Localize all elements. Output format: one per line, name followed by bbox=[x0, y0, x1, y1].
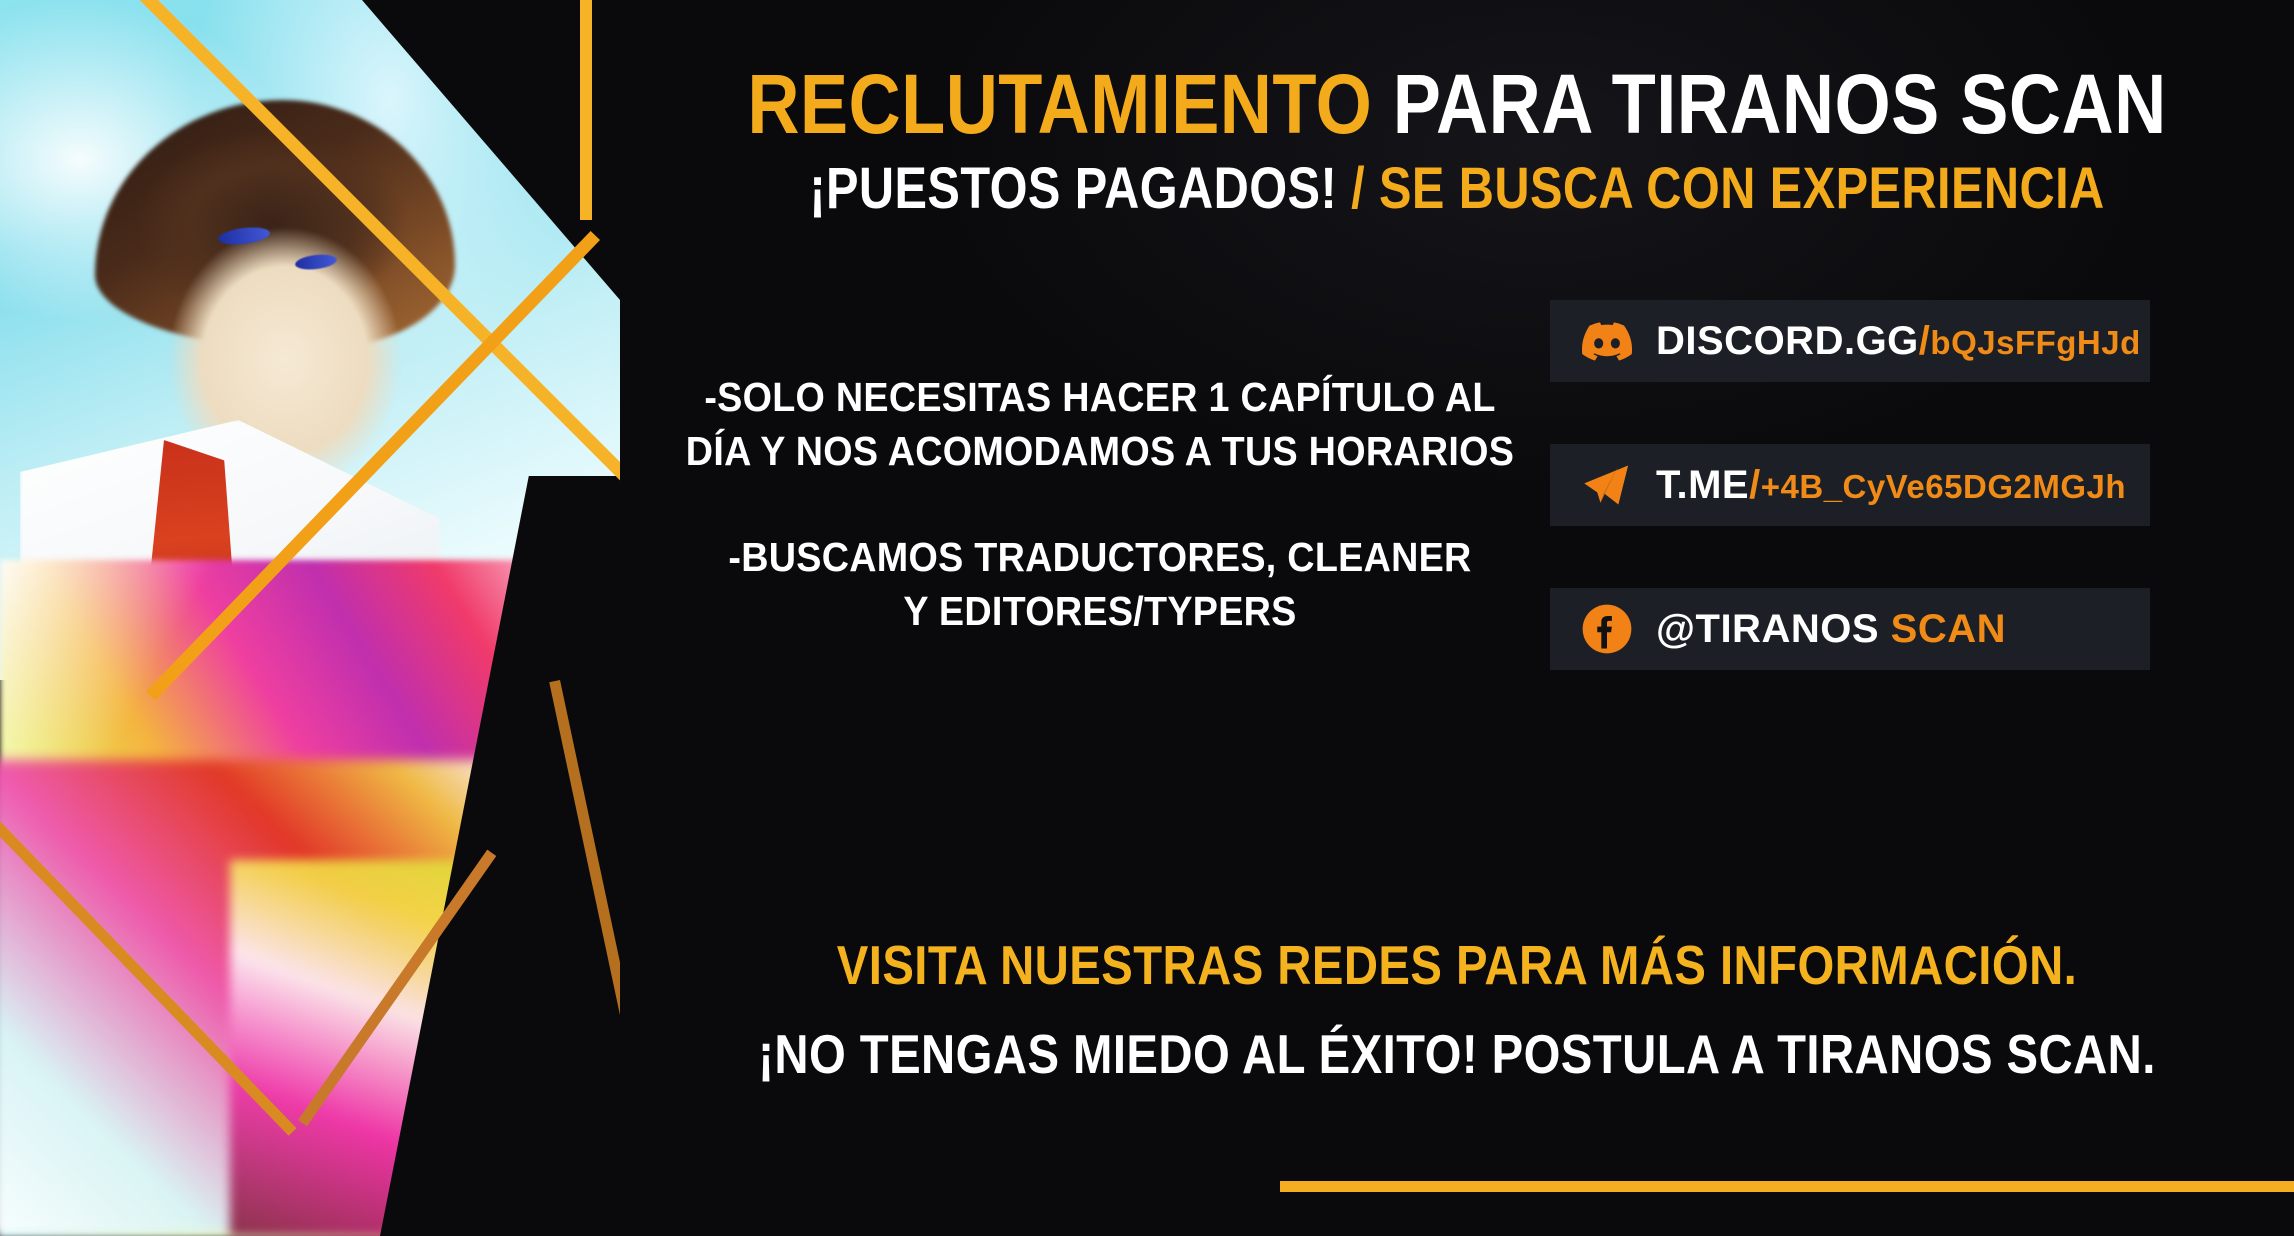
contact-discord-text: DISCORD.GG/bQJsFFgHJd bbox=[1656, 319, 2141, 364]
discord-domain: DISCORD.GG bbox=[1656, 319, 1919, 363]
cta-line-2: ¡NO TENGAS MIEDO AL ÉXITO! POSTULA A TIR… bbox=[737, 1023, 2177, 1086]
bullet-2-line-2: Y EDITORES/TYPERS bbox=[622, 584, 1579, 638]
bullet-1-line-2: DÍA Y NOS ACOMODAMOS A TUS HORARIOS bbox=[622, 424, 1579, 478]
gold-frame-stroke-2 bbox=[580, 0, 592, 220]
call-to-action: VISITA NUESTRAS REDES PARA MÁS INFORMACI… bbox=[620, 934, 2294, 1087]
contact-facebook[interactable]: @TIRANOS SCAN bbox=[1550, 588, 2150, 670]
page-title: RECLUTAMIENTO PARA TIRANOS SCAN bbox=[737, 62, 2177, 146]
discord-slash: / bbox=[1919, 319, 1931, 363]
contact-facebook-text: @TIRANOS SCAN bbox=[1656, 607, 2006, 652]
subtitle-paid-text: ¡PUESTOS PAGADOS! bbox=[809, 156, 1337, 221]
discord-icon bbox=[1580, 314, 1634, 368]
subtitle-separator: / bbox=[1351, 156, 1365, 221]
subtitle-experience-text: SE BUSCA CON EXPERIENCIA bbox=[1379, 156, 2105, 221]
contact-telegram-text: T.ME/+4B_CyVe65DG2MGJh bbox=[1656, 463, 2126, 508]
contact-telegram[interactable]: T.ME/+4B_CyVe65DG2MGJh bbox=[1550, 444, 2150, 526]
discord-invite-code: bQJsFFgHJd bbox=[1930, 324, 2140, 361]
telegram-domain: T.ME bbox=[1656, 463, 1749, 507]
page-subtitle: ¡PUESTOS PAGADOS! / SE BUSCA CON EXPERIE… bbox=[754, 160, 2160, 218]
contact-links: DISCORD.GG/bQJsFFgHJd T.ME/+4B_CyVe65DG2… bbox=[1550, 300, 2150, 732]
bottom-gold-rule bbox=[1280, 1181, 2294, 1192]
headline-highlight: RECLUTAMIENTO bbox=[747, 57, 1372, 151]
facebook-handle: @TIRANOS bbox=[1656, 607, 1879, 651]
bullet-2-line-1: -BUSCAMOS TRADUCTORES, CLEANER bbox=[622, 530, 1579, 584]
list-item: -BUSCAMOS TRADUCTORES, CLEANER Y EDITORE… bbox=[580, 530, 1620, 638]
headline-rest: PARA TIRANOS SCAN bbox=[1393, 57, 2167, 151]
content-panel: RECLUTAMIENTO PARA TIRANOS SCAN ¡PUESTOS… bbox=[620, 0, 2294, 1236]
artwork-panel bbox=[0, 0, 620, 1236]
requirements-list: -SOLO NECESITAS HACER 1 CAPÍTULO AL DÍA … bbox=[580, 370, 1620, 690]
telegram-icon bbox=[1580, 458, 1634, 512]
telegram-slash: / bbox=[1749, 463, 1761, 507]
cta-line-1: VISITA NUESTRAS REDES PARA MÁS INFORMACI… bbox=[737, 934, 2177, 997]
bullet-1-line-1: -SOLO NECESITAS HACER 1 CAPÍTULO AL bbox=[622, 370, 1579, 424]
facebook-icon bbox=[1580, 602, 1634, 656]
contact-discord[interactable]: DISCORD.GG/bQJsFFgHJd bbox=[1550, 300, 2150, 382]
telegram-invite-code: +4B_CyVe65DG2MGJh bbox=[1761, 468, 2126, 505]
list-item: -SOLO NECESITAS HACER 1 CAPÍTULO AL DÍA … bbox=[580, 370, 1620, 478]
recruitment-banner: RECLUTAMIENTO PARA TIRANOS SCAN ¡PUESTOS… bbox=[0, 0, 2294, 1236]
facebook-handle-suffix: SCAN bbox=[1891, 607, 2006, 651]
